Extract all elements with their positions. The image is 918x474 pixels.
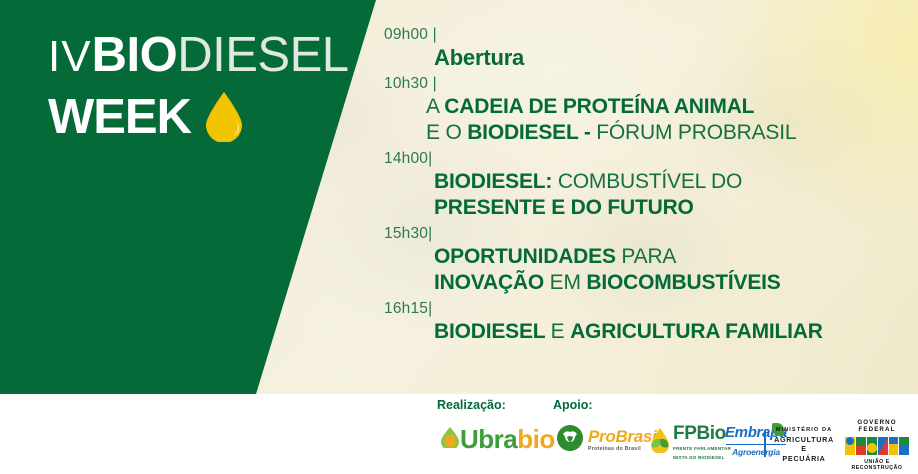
- schedule-item-time: 09h00 |: [384, 24, 904, 45]
- governo-top-label: GOVERNO FEDERAL: [843, 419, 911, 433]
- leaf-drop-icon: [650, 427, 670, 458]
- logo-line-one: IVBIODIESEL: [48, 28, 348, 84]
- event-poster: IVBIODIESEL WEEK 09h00 |Abertura10h30 |A…: [0, 0, 918, 474]
- schedule-title-segment: AGRICULTURA FAMILIAR: [570, 320, 823, 343]
- logo-diesel: DIESEL: [177, 28, 348, 82]
- fpbio-text: FPBio FRENTE PARLAMENTAR MISTA DO BIODIE…: [673, 424, 731, 461]
- schedule-item-title: A CADEIA DE PROTEÍNA ANIMAL: [426, 94, 904, 121]
- logo-probrasil: ProBrasil Proteínas do Brasil: [556, 424, 661, 457]
- schedule-title-segment: BIODIESEL: [434, 320, 551, 343]
- leaf-drop-icon: [440, 426, 460, 453]
- fpbio-wordmark: FPBio: [673, 424, 731, 443]
- schedule-title-segment: PARA: [621, 245, 676, 268]
- schedule-title-segment: COMBUSTÍVEL DO: [558, 170, 742, 193]
- logo-governo-federal: GOVERNO FEDERAL UNIÃO E RECONSTRUÇÃO: [843, 419, 911, 471]
- schedule-item-title: E O BIODIESEL - FÓRUM PROBRASIL: [426, 120, 904, 147]
- fpbio-tagline-line2: MISTA DO BIODIESEL: [673, 455, 731, 461]
- ministerio-divider: [764, 431, 766, 457]
- logo-week: WEEK: [48, 91, 191, 143]
- ministerio-line-two: AGRICULTURA E: [771, 435, 837, 453]
- schedule-item-title: INOVAÇÃO EM BIOCOMBUSTÍVEIS: [434, 270, 904, 297]
- schedule-item-time: 10h30 |: [384, 73, 904, 94]
- schedule-title-segment: A: [426, 95, 444, 118]
- schedule-item-title: PRESENTE E DO FUTURO: [434, 195, 904, 222]
- schedule-title-segment: BIODIESEL -: [467, 121, 596, 144]
- schedule-item-title: BIODIESEL E AGRICULTURA FAMILIAR: [434, 319, 904, 346]
- realizacao-label: Realização:: [437, 398, 506, 412]
- ubrabio-wordmark: Ubrabio: [460, 424, 555, 455]
- schedule-title-segment: BIODIESEL:: [434, 170, 558, 193]
- schedule-list: 09h00 |Abertura10h30 |A CADEIA DE PROTEÍ…: [384, 24, 904, 346]
- schedule-title-segment: EM: [550, 271, 587, 294]
- schedule-item-time: 15h30|: [384, 223, 904, 244]
- apoio-label: Apoio:: [553, 398, 593, 412]
- ubrabio-part-one: Ubra: [460, 424, 517, 454]
- governo-bottom-label: UNIÃO E RECONSTRUÇÃO: [843, 459, 911, 471]
- schedule-item-time: 14h00|: [384, 148, 904, 169]
- brasil-blocks-icon: [843, 435, 911, 457]
- schedule-title-segment: Abertura: [434, 45, 524, 70]
- oil-drop-icon: [203, 90, 245, 147]
- schedule-item: 09h00 |Abertura: [384, 24, 904, 72]
- schedule-item: 15h30|OPORTUNIDADES PARAINOVAÇÃO EM BIOC…: [384, 223, 904, 297]
- schedule-item-title: Abertura: [434, 45, 904, 72]
- schedule-title-segment: INOVAÇÃO: [434, 271, 550, 294]
- ubrabio-part-two: bio: [517, 424, 555, 454]
- schedule-title-segment: E: [551, 320, 570, 343]
- schedule-item-time: 16h15|: [384, 298, 904, 319]
- logo-line-two: WEEK: [48, 86, 348, 147]
- schedule-title-segment: E O: [426, 121, 467, 144]
- schedule-item: 16h15|BIODIESEL E AGRICULTURA FAMILIAR: [384, 298, 904, 346]
- ministerio-line-one: MINISTÉRIO DA: [771, 427, 837, 433]
- schedule-item: 14h00|BIODIESEL: COMBUSTÍVEL DOPRESENTE …: [384, 148, 904, 222]
- cattle-emblem-icon: [556, 424, 584, 457]
- logo-bio: BIO: [92, 28, 178, 82]
- schedule-title-segment: CADEIA DE PROTEÍNA ANIMAL: [444, 95, 754, 118]
- schedule-title-segment: BIOCOMBUSTÍVEIS: [586, 271, 780, 294]
- schedule-title-segment: FÓRUM PROBRASIL: [596, 121, 796, 144]
- schedule-item-title: BIODIESEL: COMBUSTÍVEL DO: [434, 169, 904, 196]
- schedule-title-segment: PRESENTE E DO FUTURO: [434, 196, 694, 219]
- event-logo: IVBIODIESEL WEEK: [48, 28, 348, 147]
- fpbio-tagline-line1: FRENTE PARLAMENTAR: [673, 446, 731, 452]
- logo-fpbio: FPBio FRENTE PARLAMENTAR MISTA DO BIODIE…: [650, 424, 731, 461]
- logo-ubrabio: Ubrabio: [440, 424, 555, 455]
- schedule-title-segment: OPORTUNIDADES: [434, 245, 621, 268]
- schedule-item: 10h30 |A CADEIA DE PROTEÍNA ANIMALE O BI…: [384, 73, 904, 147]
- logo-ministerio: MINISTÉRIO DA AGRICULTURA E PECUÁRIA: [771, 427, 837, 463]
- schedule-item-title: OPORTUNIDADES PARA: [434, 244, 904, 271]
- ministerio-line-three: PECUÁRIA: [771, 454, 837, 463]
- logo-numeral: IV: [48, 32, 92, 81]
